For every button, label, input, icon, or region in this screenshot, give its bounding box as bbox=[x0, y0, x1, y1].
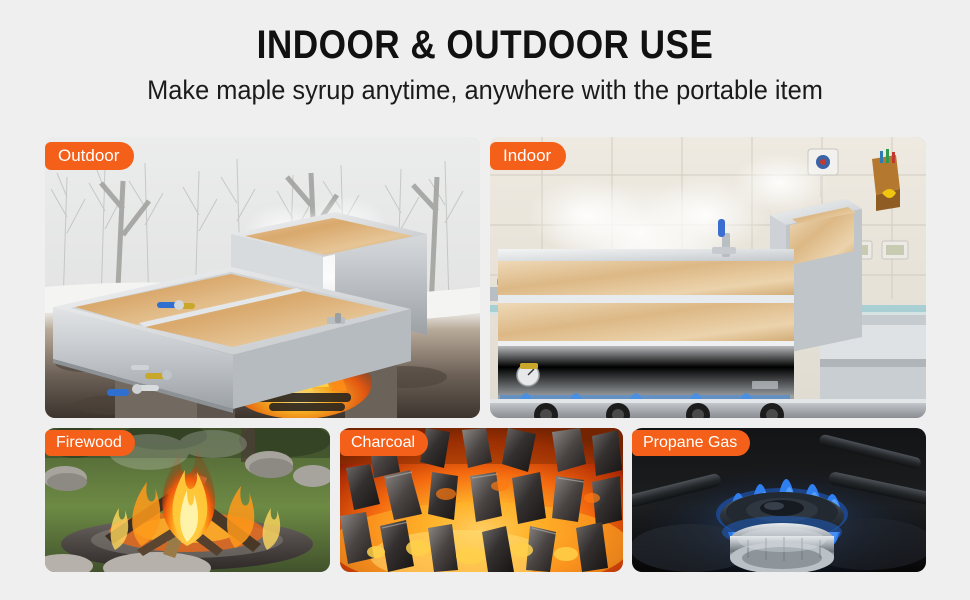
promo-banner: INDOOR & OUTDOOR USE Make maple syrup an… bbox=[0, 0, 970, 600]
page-subtitle: Make maple syrup anytime, anywhere with … bbox=[29, 74, 941, 106]
badge-propane: Propane Gas bbox=[632, 430, 750, 456]
photo-indoor bbox=[490, 137, 926, 418]
photo-outdoor bbox=[45, 137, 480, 418]
header: INDOOR & OUTDOOR USE Make maple syrup an… bbox=[0, 0, 970, 106]
page-title: INDOOR & OUTDOOR USE bbox=[58, 22, 912, 68]
badge-indoor: Indoor bbox=[490, 142, 566, 170]
badge-outdoor: Outdoor bbox=[45, 142, 134, 170]
badge-charcoal: Charcoal bbox=[340, 430, 428, 456]
badge-firewood: Firewood bbox=[45, 430, 135, 456]
